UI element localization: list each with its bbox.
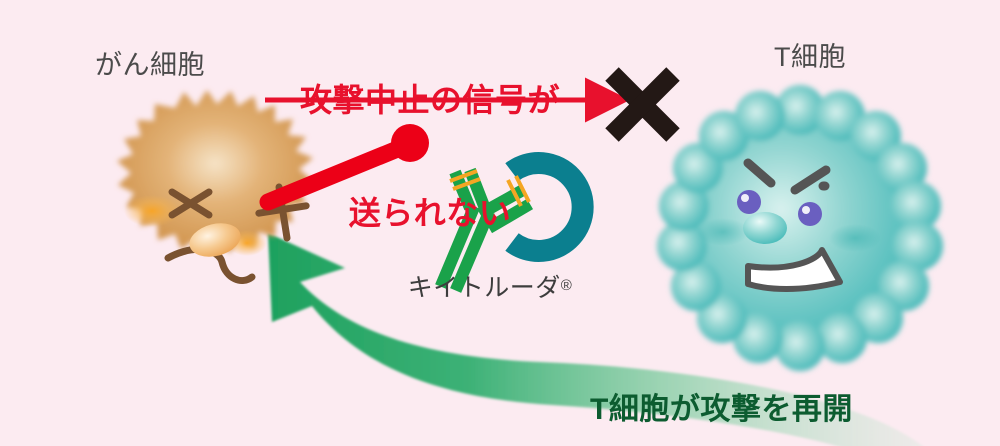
label-cancer-cell: がん細胞 <box>0 50 300 82</box>
t-cell-nose <box>743 212 787 244</box>
block-x-icon <box>612 74 673 135</box>
cancer-blush-left <box>124 195 180 227</box>
t-cell <box>657 85 943 371</box>
registered-trademark-icon: ® <box>561 277 573 294</box>
label-no-signal-sent: 攻撃中止の信号が 送られない <box>280 6 580 308</box>
diagram-canvas: がん細胞 T細胞 攻撃中止の信号が 送られない キイトルーダ® T細胞が攻撃を再… <box>0 0 1000 446</box>
label-no-signal-line2: 送られない <box>280 195 580 233</box>
label-t-cell: T細胞 <box>690 42 930 74</box>
label-drug-name: キイトルーダ® <box>340 274 640 304</box>
t-cell-eye-right <box>798 202 822 226</box>
t-cell-blush-right <box>829 224 881 252</box>
label-no-signal-line1: 攻撃中止の信号が <box>280 82 580 120</box>
t-cell-blush-left <box>697 218 749 246</box>
drug-name-text: キイトルーダ <box>408 274 561 302</box>
t-cell-eye-left <box>737 190 761 214</box>
label-resume-attack: T細胞が攻撃を再開 <box>590 392 990 427</box>
